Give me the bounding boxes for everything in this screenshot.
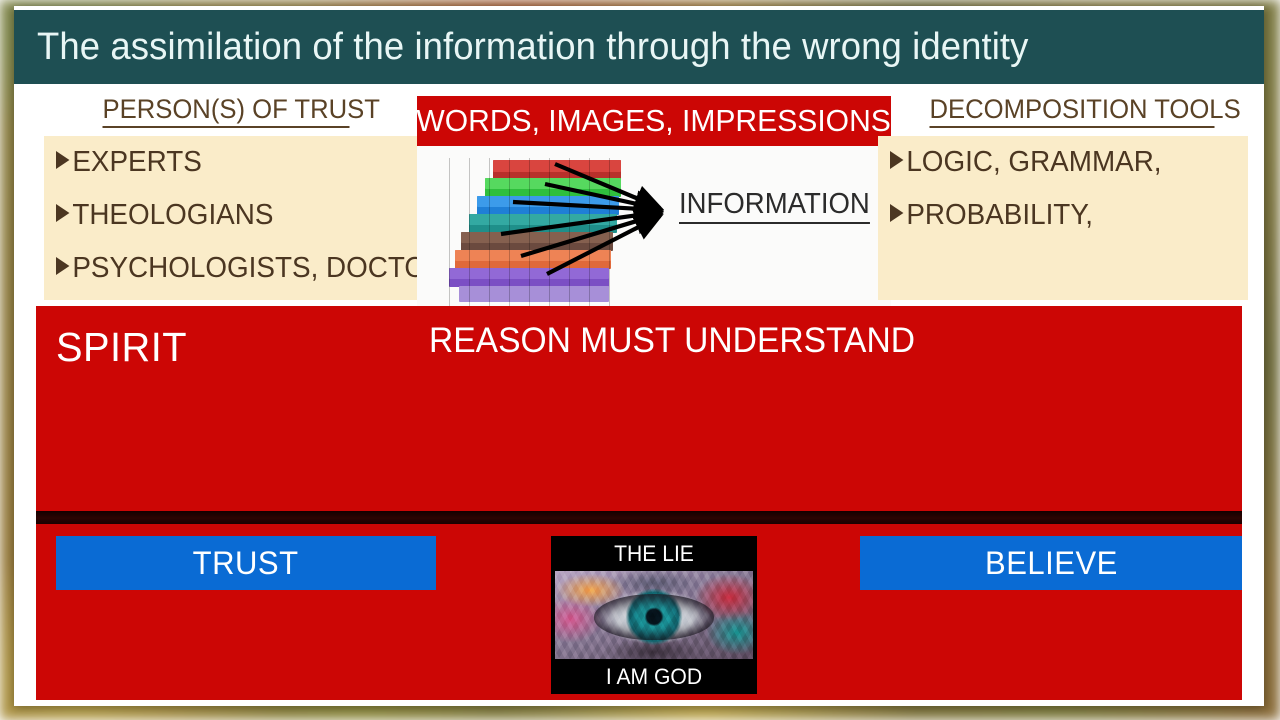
right-column-heading: DECOMPOSITION TOOLS: [930, 94, 1215, 128]
list-item-label: PSYCHOLOGISTS, DOCTORS: [72, 254, 464, 283]
the-lie-card[interactable]: THE LIE I AM GOD: [551, 536, 757, 694]
section-divider: [36, 511, 1242, 524]
slide-canvas: The assimilation of the information thro…: [14, 6, 1264, 706]
believe-button[interactable]: BELIEVE: [860, 536, 1242, 590]
slide-title-bar: The assimilation of the information thro…: [14, 10, 1264, 84]
information-label: INFORMATION: [679, 188, 870, 224]
center-column-header: WORDS, IMAGES, IMPRESSIONS: [417, 96, 891, 146]
triangle-bullet-icon: [56, 257, 69, 275]
triangle-bullet-icon: [56, 204, 69, 222]
reason-label: REASON MUST UNDERSTAND: [429, 321, 915, 361]
left-column-panel: EXPERTS THEOLOGIANS PSYCHOLOGISTS, DOCTO…: [44, 136, 418, 300]
triangle-bullet-icon: [890, 204, 903, 222]
list-item[interactable]: PSYCHOLOGISTS, DOCTORS: [56, 254, 465, 283]
trust-button[interactable]: TRUST: [56, 536, 436, 590]
the-lie-bottom-caption: I AM GOD: [555, 659, 753, 694]
list-item[interactable]: THEOLOGIANS: [56, 201, 273, 230]
list-item-label: PROBABILITY,: [906, 201, 1093, 230]
body-red-panel: SPIRIT REASON MUST UNDERSTAND: [36, 306, 1242, 511]
mosaic-eye-image: [555, 571, 753, 659]
right-column-panel: LOGIC, GRAMMAR, PROBABILITY,: [878, 136, 1248, 300]
trust-button-label: TRUST: [193, 545, 299, 582]
triangle-bullet-icon: [890, 151, 903, 169]
list-item[interactable]: PROBABILITY,: [890, 201, 1093, 230]
list-item-label: THEOLOGIANS: [72, 201, 273, 230]
center-figure-area: INFORMATION: [417, 146, 891, 306]
convergence-arrows-icon: [417, 146, 891, 306]
believe-button-label: BELIEVE: [985, 545, 1118, 582]
list-item-label: EXPERTS: [72, 148, 201, 177]
list-item[interactable]: EXPERTS: [56, 148, 202, 177]
page-title: The assimilation of the information thro…: [14, 26, 1028, 69]
slide-bottom-edge: [14, 700, 1264, 706]
list-item-label: LOGIC, GRAMMAR,: [906, 148, 1161, 177]
list-item[interactable]: LOGIC, GRAMMAR,: [890, 148, 1162, 177]
left-column-heading: PERSON(S) OF TRUST: [103, 94, 350, 128]
spirit-label: SPIRIT: [56, 324, 187, 371]
the-lie-top-caption: THE LIE: [555, 536, 753, 571]
center-column-heading: WORDS, IMAGES, IMPRESSIONS: [417, 103, 892, 139]
triangle-bullet-icon: [56, 151, 69, 169]
